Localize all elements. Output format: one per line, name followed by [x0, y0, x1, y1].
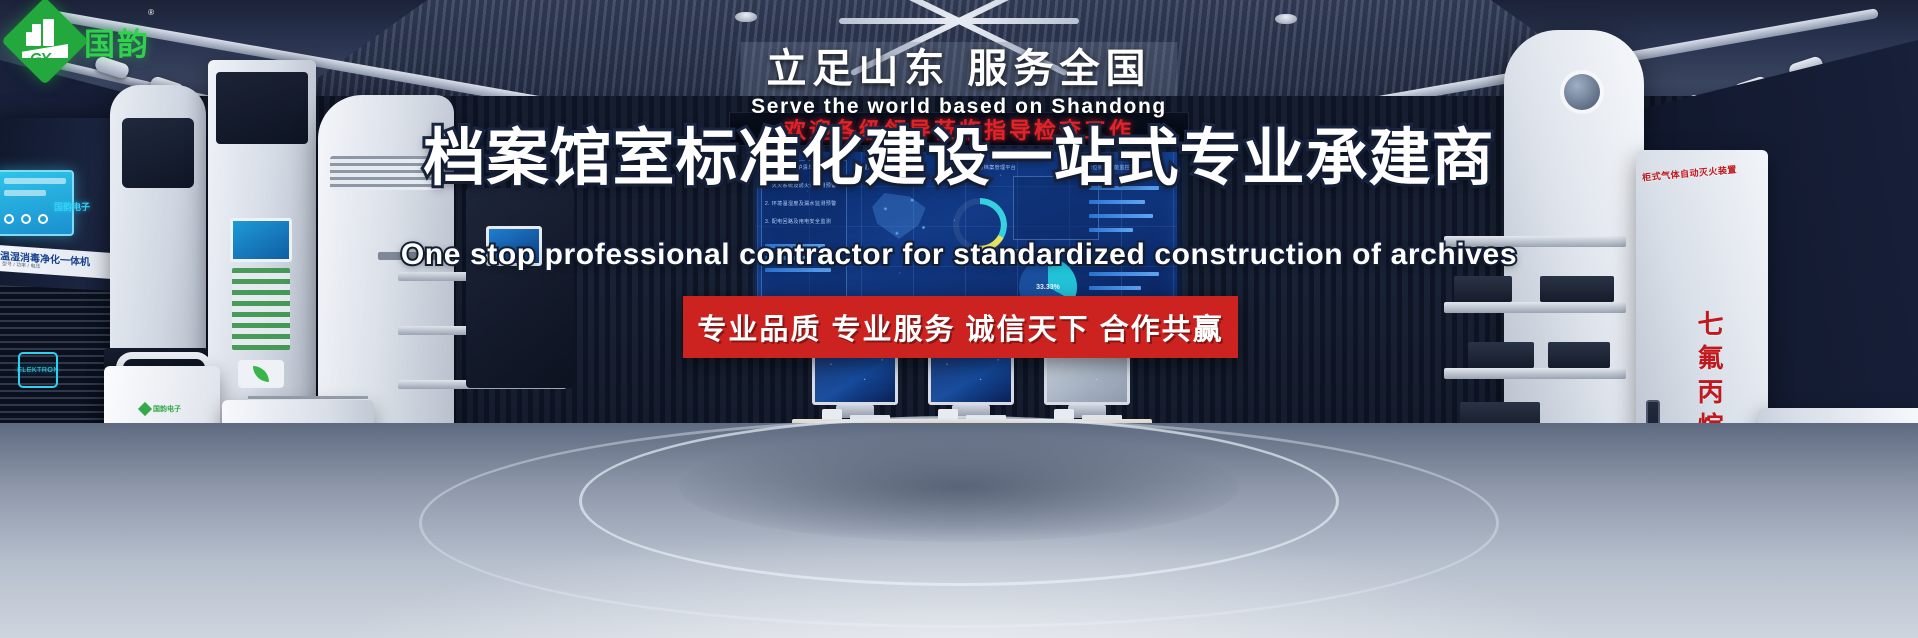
headline-plate: 立足山东 服务全国	[740, 42, 1177, 96]
brand-name: 国韵	[84, 19, 150, 64]
hero-headline-cn: 立足山东 服务全国	[766, 46, 1151, 92]
text-overlay: GY ® 国韵 欢迎各级领导莅临指导检查工作 立足山东 服务全国 Serve t…	[0, 0, 1918, 638]
hero-main-title-en: One stop professional contractor for sta…	[401, 238, 1517, 272]
logo-inner: GY	[14, 10, 76, 72]
slogan-bar-text: 专业品质 专业服务 诚信天下 合作共赢	[697, 306, 1223, 348]
logo-building-icon	[32, 24, 41, 46]
logo-building-icon	[43, 19, 54, 46]
hero-main-title-cn: 档案馆室标准化建设一站式专业承建商	[423, 126, 1494, 191]
hero-headline-en: Serve the world based on Shandong	[751, 95, 1167, 119]
brand-logo[interactable]: GY ® 国韵	[14, 10, 150, 72]
logo-diamond-icon: GY	[1, 0, 89, 85]
hero-banner: 档案馆安全防护清单 1. 灭火系统及防火门监测预警 2. 环境温湿度及漏水监测预…	[0, 0, 1918, 638]
logo-mark-text: GY	[30, 50, 50, 67]
registered-trademark-icon: ®	[148, 8, 154, 17]
slogan-bar: 专业品质 专业服务 诚信天下 合作共赢	[683, 296, 1238, 358]
logo-building-icon	[26, 32, 32, 46]
